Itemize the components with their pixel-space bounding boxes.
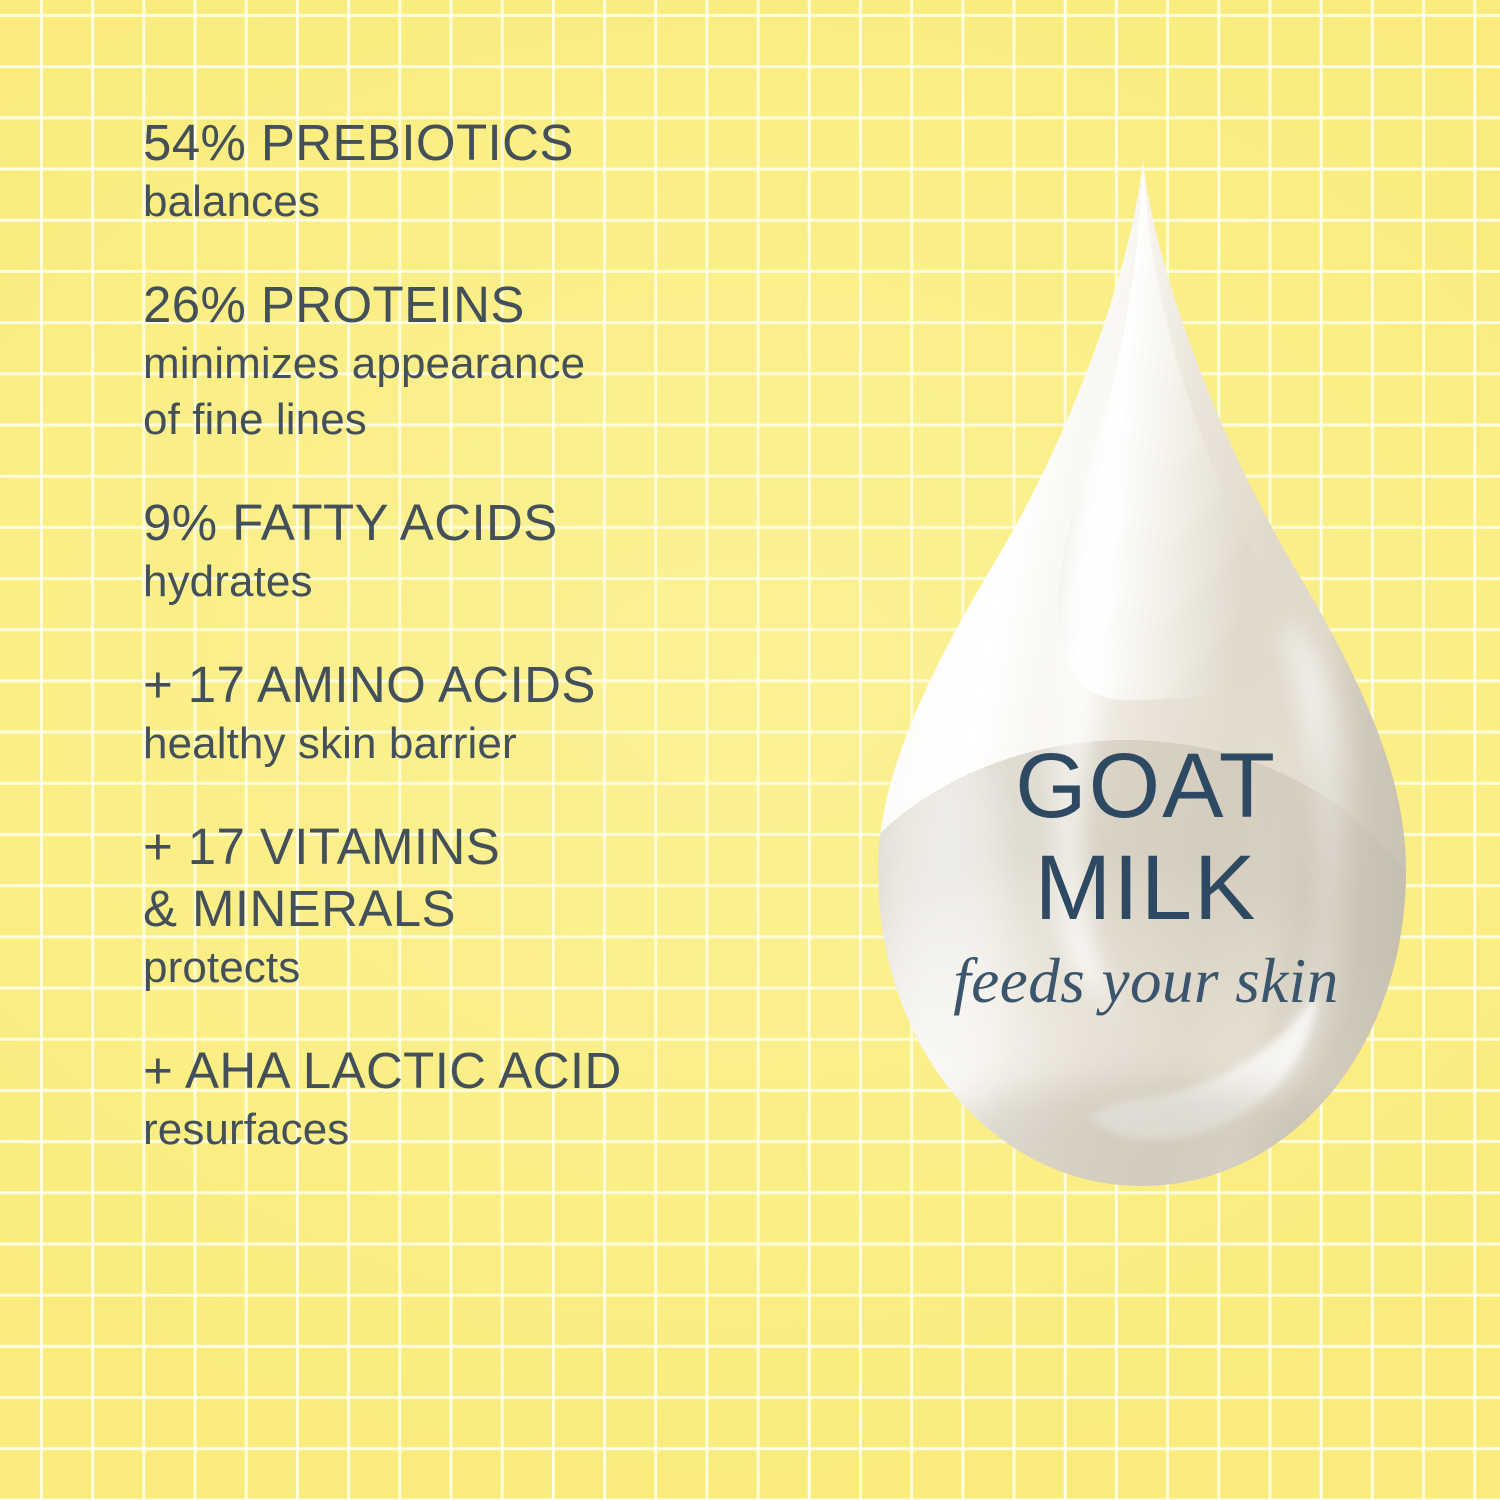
promo-graphic: 54% PREBIOTICS balances 26% PROTEINS min… — [0, 0, 1500, 1500]
spacer — [143, 610, 863, 654]
ingredient-headline: + 17 VITAMINS — [143, 816, 863, 878]
spacer — [143, 996, 863, 1040]
ingredient-item-proteins: 26% PROTEINS minimizes appearance of fin… — [143, 274, 863, 448]
spacer — [143, 230, 863, 274]
ingredient-benefit: of fine lines — [143, 392, 863, 448]
ingredient-headline: 9% FATTY ACIDS — [143, 492, 863, 554]
droplet-base-shadow — [842, 1080, 1442, 1215]
droplet-left-glow — [884, 720, 1008, 1160]
ingredient-benefit: protects — [143, 940, 863, 996]
ingredient-headline: 26% PROTEINS — [143, 274, 863, 336]
ingredient-benefit: resurfaces — [143, 1102, 863, 1158]
ingredient-headline: 54% PREBIOTICS — [143, 112, 863, 174]
ingredient-headline: + 17 AMINO ACIDS — [143, 654, 863, 716]
ingredient-benefit: hydrates — [143, 554, 863, 610]
ingredient-item-vitamins-minerals: + 17 VITAMINS & MINERALS protects — [143, 816, 863, 996]
ingredient-item-fatty-acids: 9% FATTY ACIDS hydrates — [143, 492, 863, 610]
ingredient-benefit: healthy skin barrier — [143, 716, 863, 772]
ingredient-item-prebiotics: 54% PREBIOTICS balances — [143, 112, 863, 230]
ingredient-list: 54% PREBIOTICS balances 26% PROTEINS min… — [143, 112, 863, 1158]
spacer — [143, 772, 863, 816]
ingredient-headline: + AHA LACTIC ACID — [143, 1040, 863, 1102]
spacer — [143, 448, 863, 492]
ingredient-item-aha-lactic-acid: + AHA LACTIC ACID resurfaces — [143, 1040, 863, 1158]
ingredient-headline: & MINERALS — [143, 878, 863, 940]
milk-droplet-illustration — [826, 140, 1466, 1215]
ingredient-benefit: minimizes appearance — [143, 336, 863, 392]
ingredient-benefit: balances — [143, 174, 863, 230]
ingredient-item-amino-acids: + 17 AMINO ACIDS healthy skin barrier — [143, 654, 863, 772]
